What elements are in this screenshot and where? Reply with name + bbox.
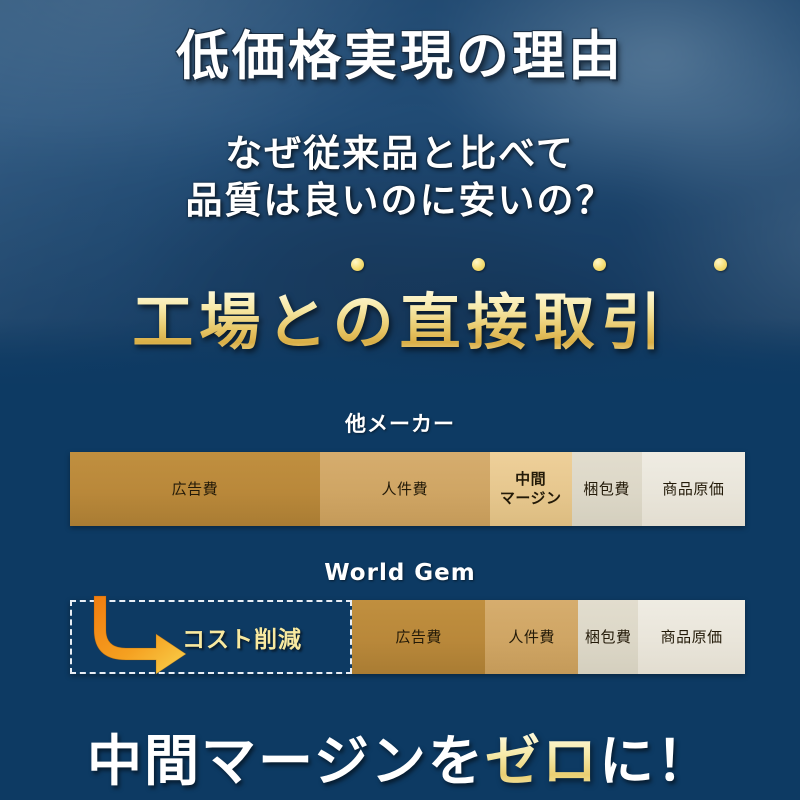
footer-slogan: 中間マージンをゼロに！ bbox=[0, 716, 800, 796]
hero-highlight-wrap: 工場との直接取引 bbox=[0, 272, 800, 352]
segment-labor-cost: 人件費 bbox=[320, 452, 490, 526]
segment-packaging-cost: 梱包費 bbox=[578, 600, 638, 674]
cost-reduction-label: コスト削減 bbox=[182, 620, 302, 654]
footer-slogan-highlight: ゼロ bbox=[485, 728, 599, 793]
footer-slogan-part-1: 中間マージンを bbox=[87, 728, 485, 793]
hero-subtitle: なぜ従来品と比べて 品質は良いのに安いの？ bbox=[0, 130, 800, 224]
segment-label: 商品原価 bbox=[662, 480, 724, 499]
page-title: 低価格実現の理由 bbox=[0, 14, 800, 90]
segment-label: 梱包費 bbox=[583, 480, 630, 499]
cost-reduction-box: コスト削減 bbox=[70, 600, 352, 674]
segment-label: 広告費 bbox=[172, 480, 219, 499]
emphasis-dot-icon bbox=[593, 258, 606, 271]
infographic-page: 低価格実現の理由 なぜ従来品と比べて 品質は良いのに安いの？ 工場との直接取引 … bbox=[0, 0, 800, 800]
segment-labor-cost: 人件費 bbox=[485, 600, 578, 674]
segment-middle-margin: 中間 マージン bbox=[490, 452, 572, 526]
segment-product-cost: 商品原価 bbox=[642, 452, 745, 526]
bar-world-gem: コスト削減 広告費 人件費 梱包費 商品原価 bbox=[70, 600, 745, 674]
segment-label: 人件費 bbox=[382, 480, 429, 499]
segment-label: 中間 マージン bbox=[500, 470, 562, 508]
segment-ad-cost: 広告費 bbox=[352, 600, 485, 674]
hero-subtitle-line-1: なぜ従来品と比べて bbox=[0, 130, 800, 177]
segment-label: 人件費 bbox=[508, 628, 555, 647]
cost-comparison-chart: 他メーカー 広告費 人件費 中間 マージン 梱包費 商品原価 World Gem bbox=[0, 388, 800, 708]
emphasis-dot-icon bbox=[351, 258, 364, 271]
bar-label-other-maker: 他メーカー bbox=[0, 408, 800, 438]
hero-highlight-text: 工場との直接取引 bbox=[132, 287, 667, 358]
segment-product-cost: 商品原価 bbox=[638, 600, 745, 674]
footer-slogan-part-3: に！ bbox=[599, 728, 713, 793]
segment-label: 梱包費 bbox=[585, 628, 632, 647]
emphasis-dot-icon bbox=[472, 258, 485, 271]
hero-content: 低価格実現の理由 なぜ従来品と比べて 品質は良いのに安いの？ 工場との直接取引 bbox=[0, 0, 800, 388]
bar-other-maker: 広告費 人件費 中間 マージン 梱包費 商品原価 bbox=[70, 452, 745, 526]
segment-label-line-2: マージン bbox=[500, 489, 562, 507]
segment-label: 商品原価 bbox=[661, 628, 723, 647]
segment-label-line-1: 中間 bbox=[515, 470, 546, 488]
bar-label-world-gem: World Gem bbox=[0, 560, 800, 586]
segment-packaging-cost: 梱包費 bbox=[572, 452, 642, 526]
hero-subtitle-line-2: 品質は良いのに安いの？ bbox=[0, 177, 800, 224]
emphasis-dot-icon bbox=[714, 258, 727, 271]
segment-ad-cost: 広告費 bbox=[70, 452, 320, 526]
segment-label: 広告費 bbox=[395, 628, 442, 647]
